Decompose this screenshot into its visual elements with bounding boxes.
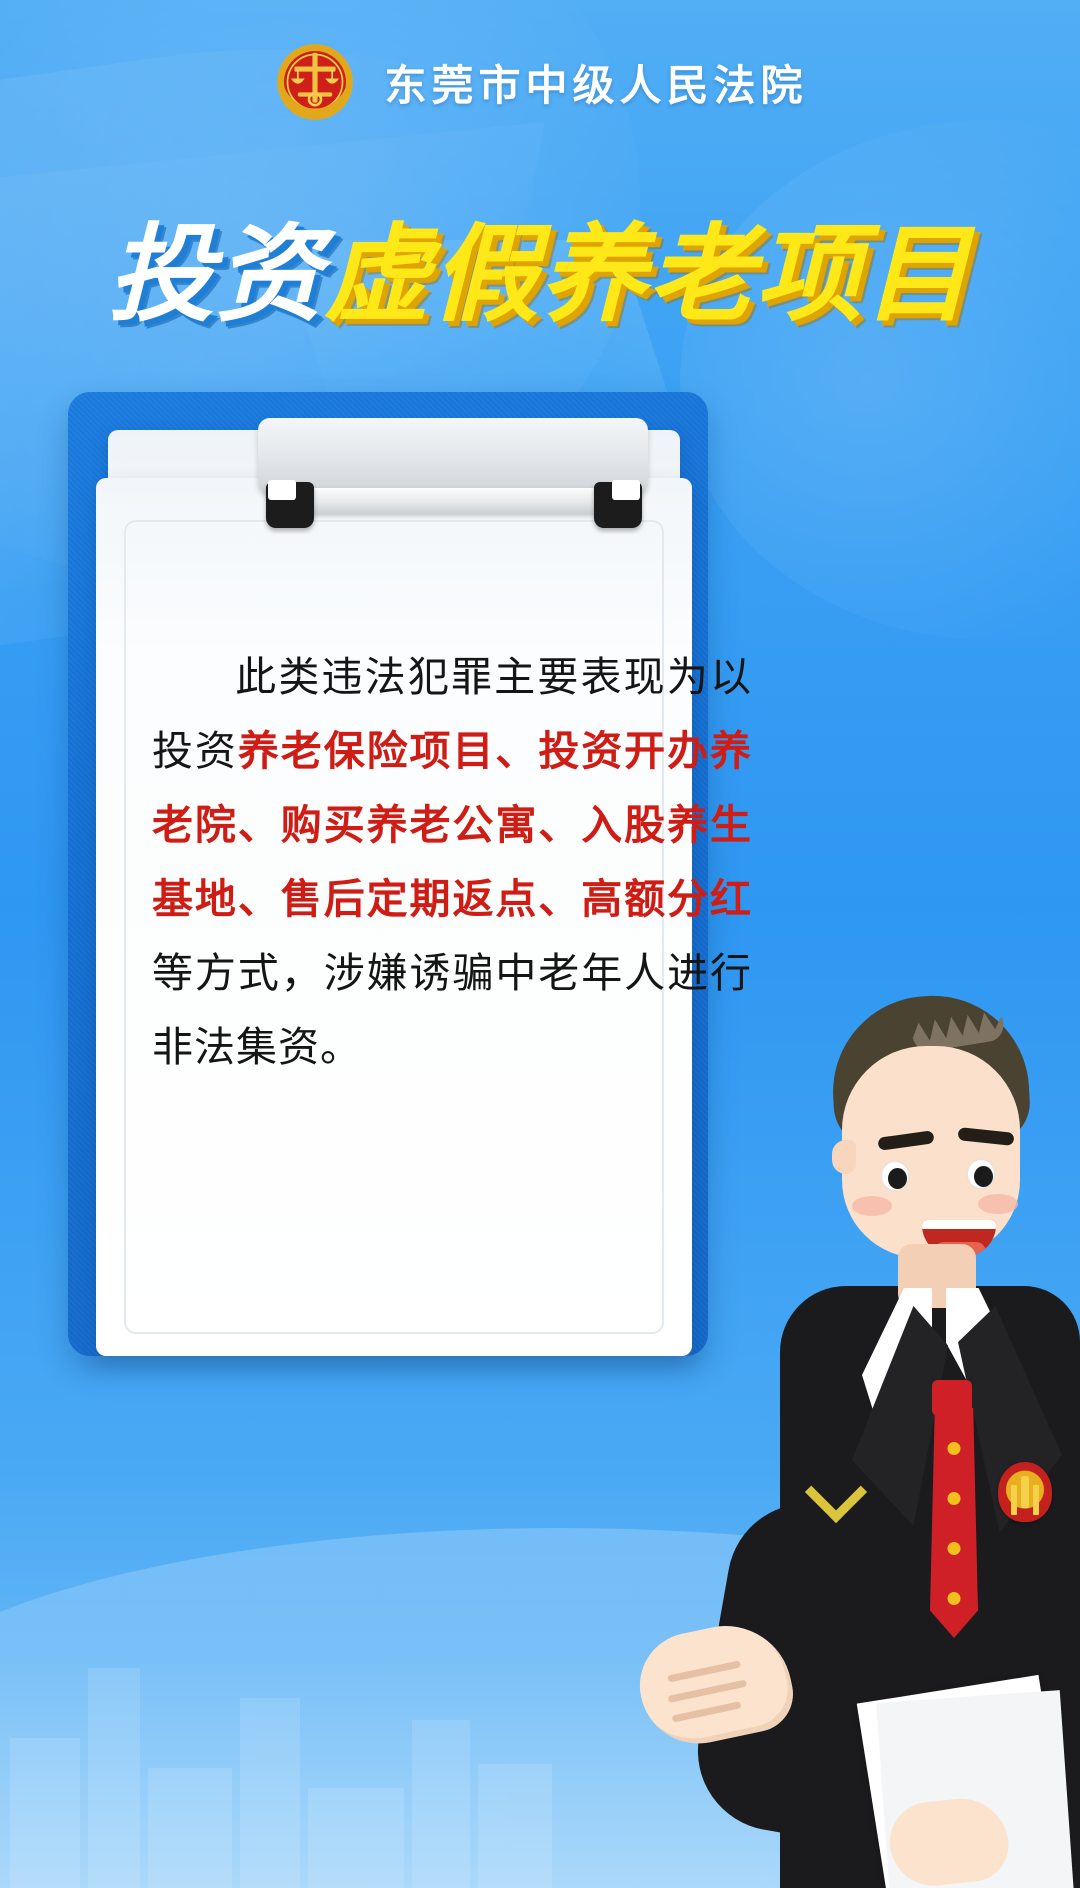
- clipboard-clip-foot-left: [266, 482, 314, 528]
- judge-cheek-right: [978, 1194, 1018, 1214]
- poster-root: 东莞市中级人民法院 投资虚假养老项目 此类违法犯罪主要表现为以投资养老保险项目、…: [0, 0, 1080, 1888]
- body-line-2-highlight: 养老保险项目、投资开办: [238, 727, 710, 775]
- body-line-1: 此类违法犯罪主要表现为以: [234, 653, 752, 701]
- court-badge-icon: [998, 1462, 1052, 1522]
- city-skyline-decoration: [0, 1588, 560, 1888]
- header: 东莞市中级人民法院: [0, 36, 1080, 128]
- judge-eye-left: [880, 1160, 910, 1192]
- page-title-white-part: 投资: [108, 213, 324, 336]
- court-emblem-icon: [272, 38, 358, 126]
- judge-ear: [832, 1140, 856, 1174]
- clipboard-clip-bar-lower: [272, 488, 634, 514]
- court-name: 东莞市中级人民法院: [384, 52, 807, 113]
- body-line-2-black: 投资: [152, 727, 238, 775]
- clipboard-clip-foot-right: [594, 482, 642, 528]
- page-title-yellow-part: 虚假养老项目: [324, 213, 972, 336]
- judge-eye-right: [966, 1158, 996, 1190]
- clipboard-clip-bar: [258, 418, 648, 494]
- judge-cheek-left: [852, 1196, 892, 1216]
- judge-character: [646, 988, 1066, 1888]
- page-title: 投资虚假养老项目: [0, 188, 1080, 342]
- body-line-5-highlight: 额分红: [624, 875, 752, 923]
- body-line-5-black: 等方式，涉嫌诱骗中老: [152, 949, 581, 997]
- judge-tie: [930, 1408, 978, 1638]
